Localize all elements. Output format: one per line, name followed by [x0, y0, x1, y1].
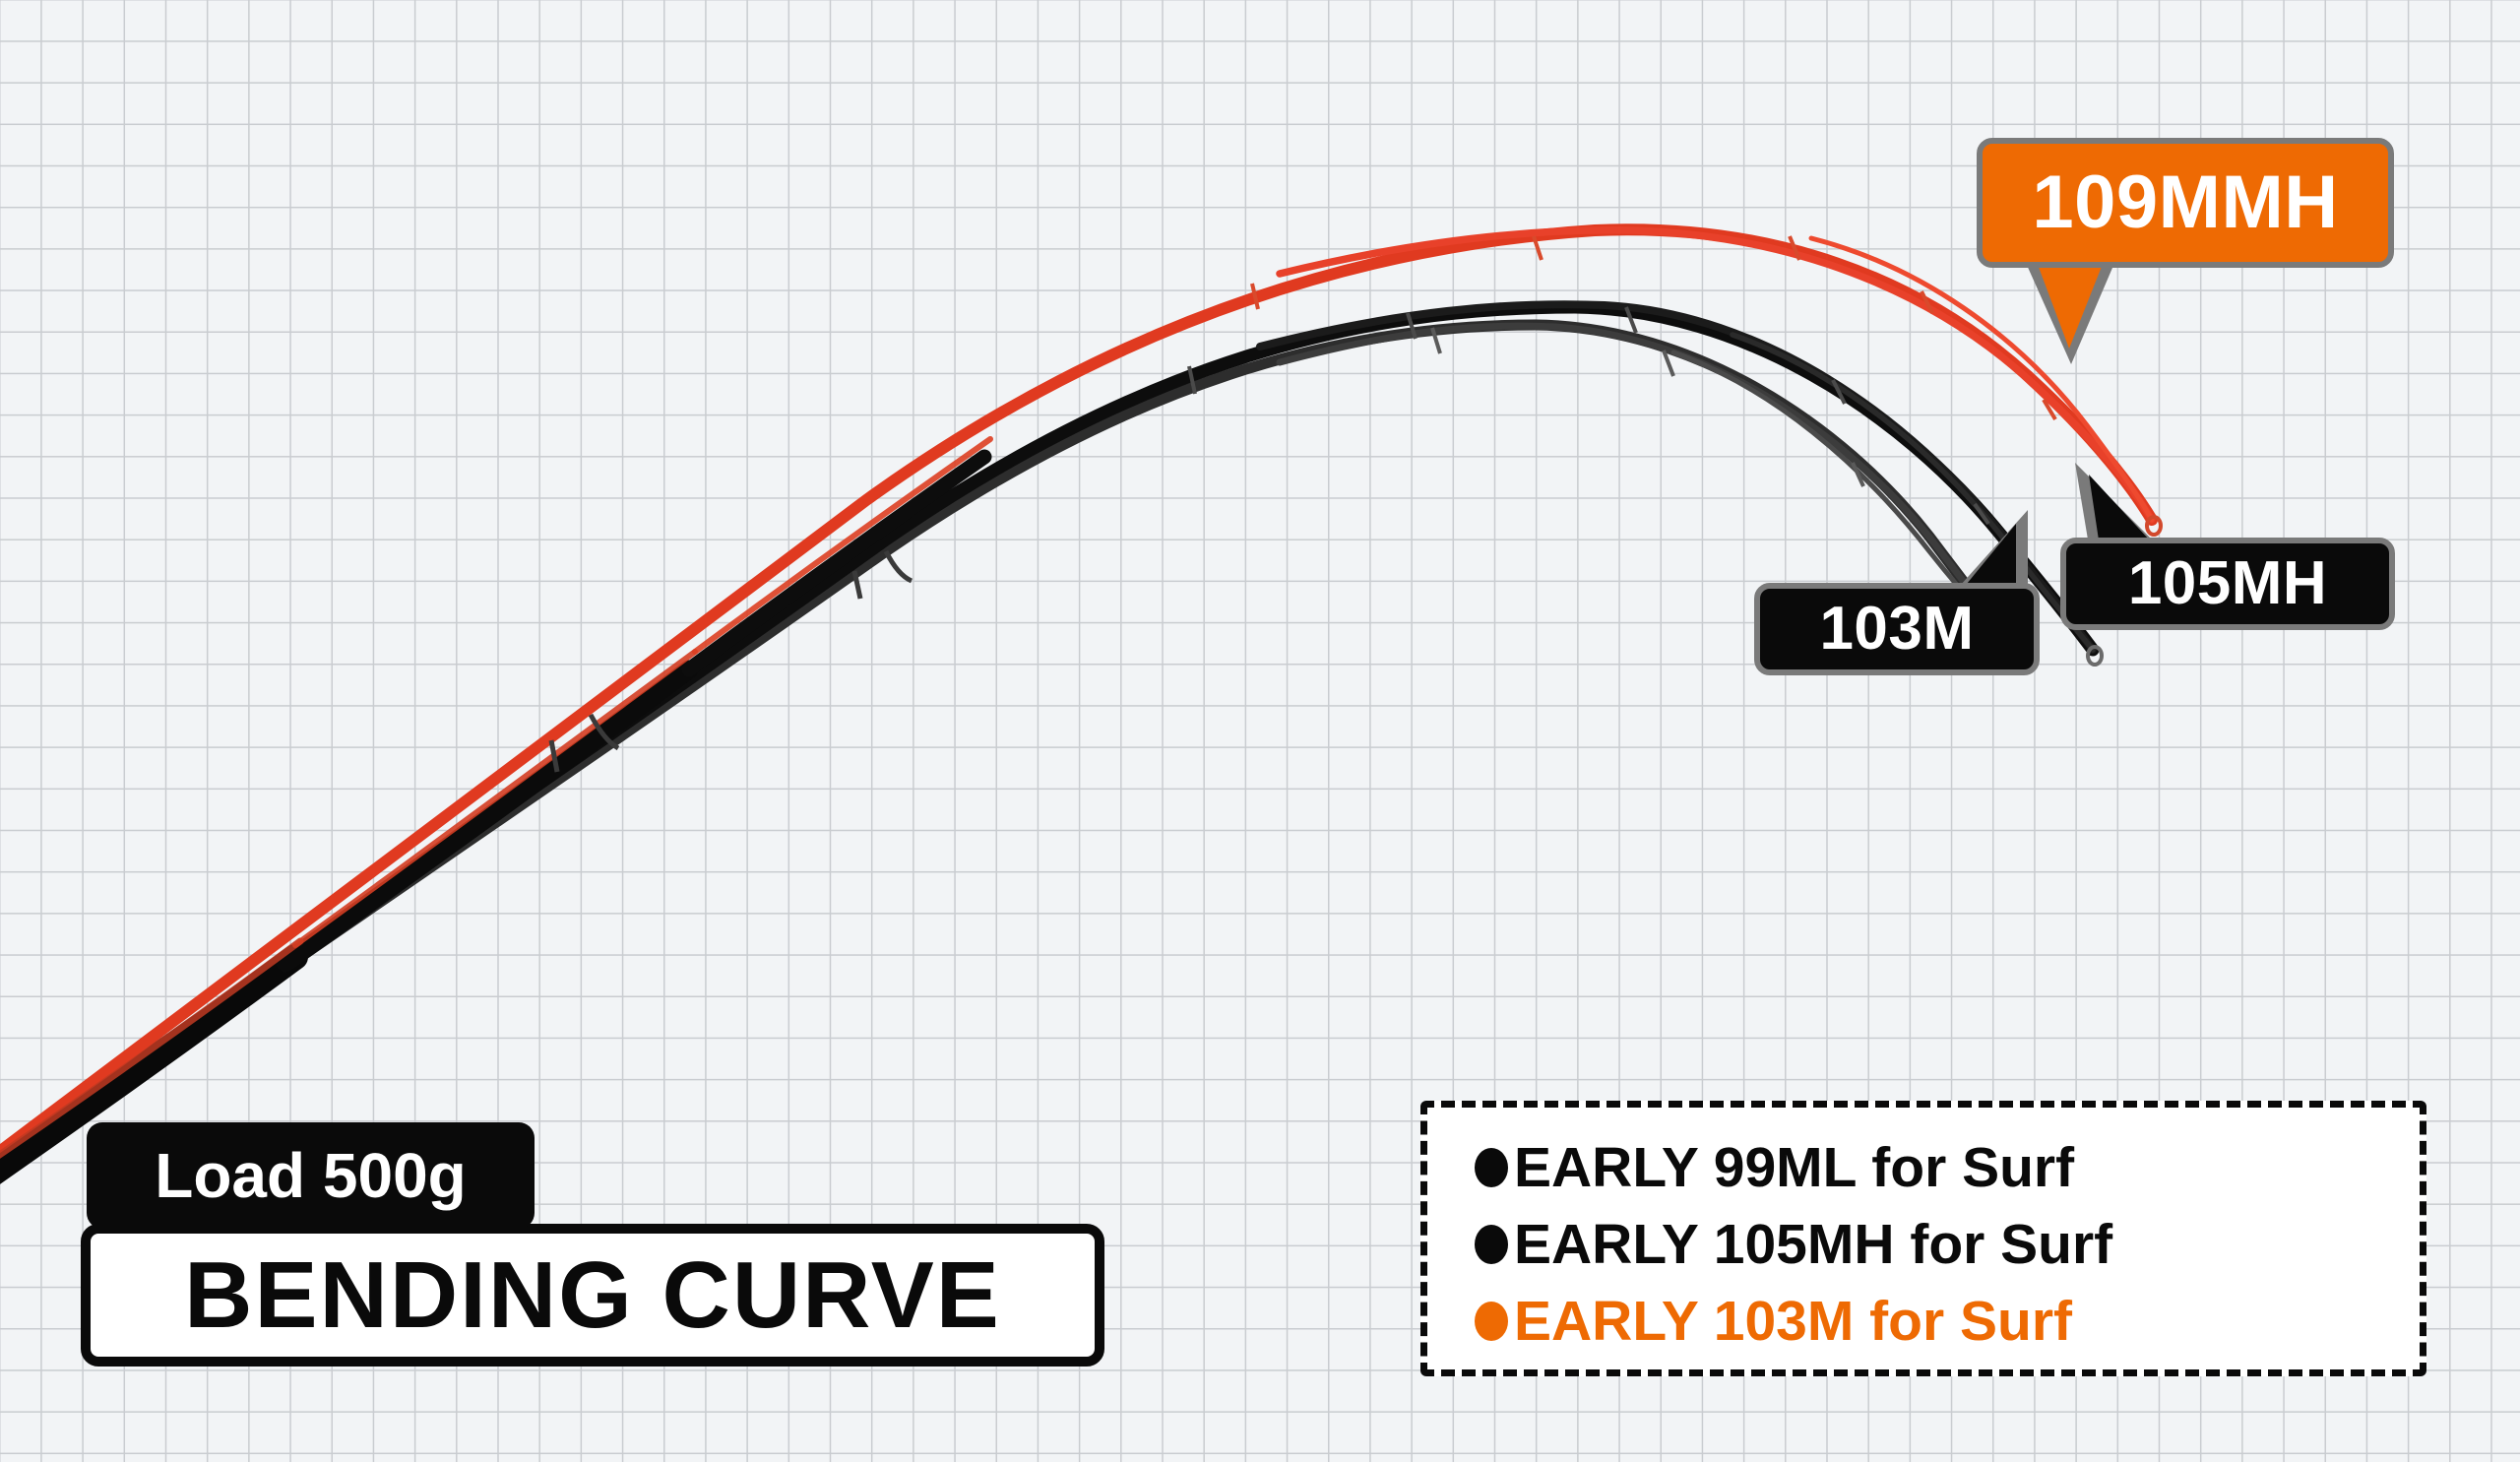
page-title: BENDING CURVE [81, 1224, 1104, 1367]
legend: EARLY 99ML for Surf EARLY 105MH for Surf… [1420, 1101, 2426, 1376]
legend-bullet-icon [1475, 1302, 1508, 1341]
callout-105mh-label: 105MH [2128, 553, 2327, 614]
callout-103m[interactable]: 103M [1754, 583, 2040, 675]
legend-bullet-icon [1475, 1225, 1508, 1264]
legend-item-105mh: EARLY 105MH for Surf [1475, 1206, 2420, 1283]
load-badge-label: Load 500g [155, 1144, 467, 1207]
curve-early-103m [0, 229, 2161, 1174]
bending-curve-chart: 109MMH 105MH 103M Load 500g BENDING CURV… [0, 0, 2520, 1462]
legend-item-label: EARLY 103M for Surf [1514, 1294, 2072, 1350]
callout-105mh[interactable]: 105MH [2060, 538, 2395, 630]
callout-109mmh[interactable]: 109MMH [1977, 138, 2394, 268]
curve-early-105mh [0, 304, 2102, 1179]
legend-item-label: EARLY 99ML for Surf [1514, 1140, 2074, 1196]
callout-103m-label: 103M [1819, 599, 1974, 660]
legend-item-label: EARLY 105MH for Surf [1514, 1217, 2112, 1273]
legend-item-103m: EARLY 103M for Surf [1475, 1283, 2420, 1360]
legend-item-99ml: EARLY 99ML for Surf [1475, 1129, 2420, 1206]
legend-bullet-icon [1475, 1148, 1508, 1187]
curve-early-99ml [0, 325, 2007, 1186]
callout-109mmh-label: 109MMH [2032, 165, 2338, 240]
page-title-label: BENDING CURVE [184, 1248, 1001, 1343]
rod-butt-section [0, 439, 990, 1196]
load-badge: Load 500g [87, 1122, 535, 1229]
